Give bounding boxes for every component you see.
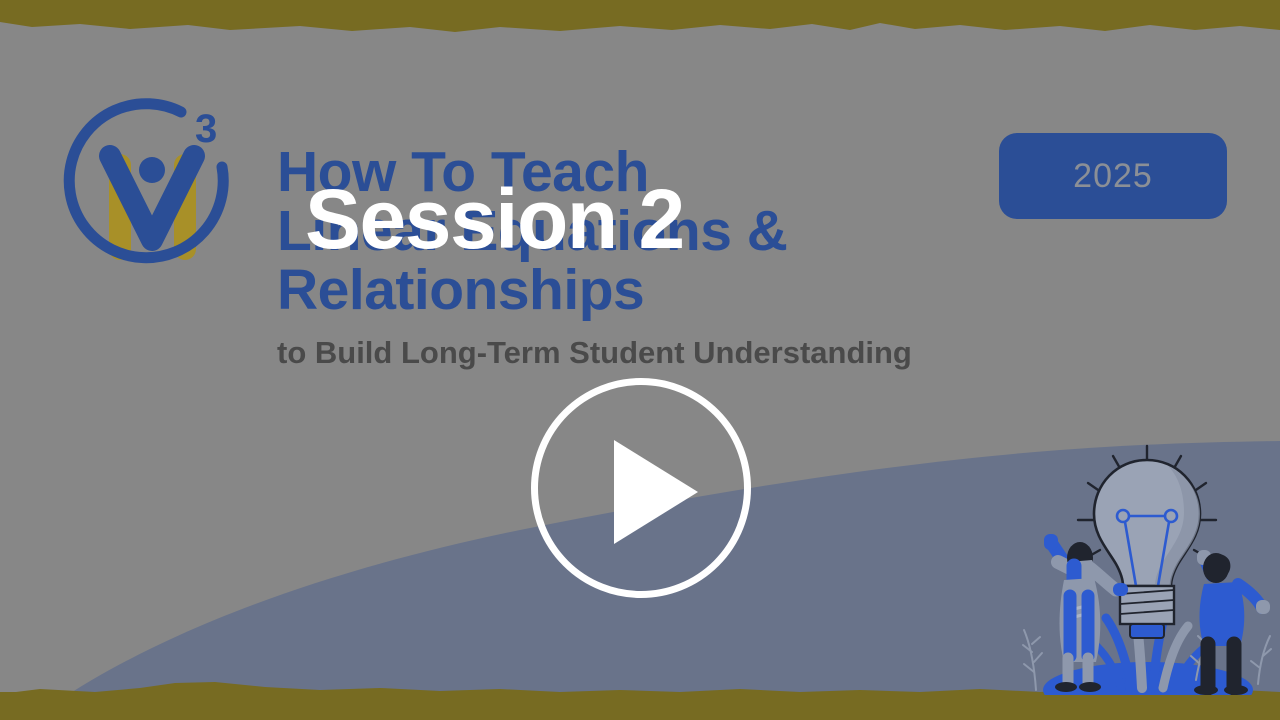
logo-head-dot [139,157,165,183]
session-overlay-text: Session 2 [305,173,985,265]
page-subtitle: to Build Long-Term Student Understanding [277,335,912,371]
year-badge-text: 2025 [1073,159,1153,193]
lightbulb-idea-illustration [1008,440,1280,695]
play-triangle-icon [614,440,698,544]
logo-superscript: 3 [195,107,217,151]
video-thumbnail-slide: 3 2025 How To Teach Linear Equations & R… [0,0,1280,720]
lightbulb-base [1120,586,1174,638]
year-badge: 2025 [999,133,1227,219]
title-line-3: Relationships [277,261,1017,320]
m3-logo: 3 [62,92,242,277]
play-button[interactable] [531,378,751,598]
